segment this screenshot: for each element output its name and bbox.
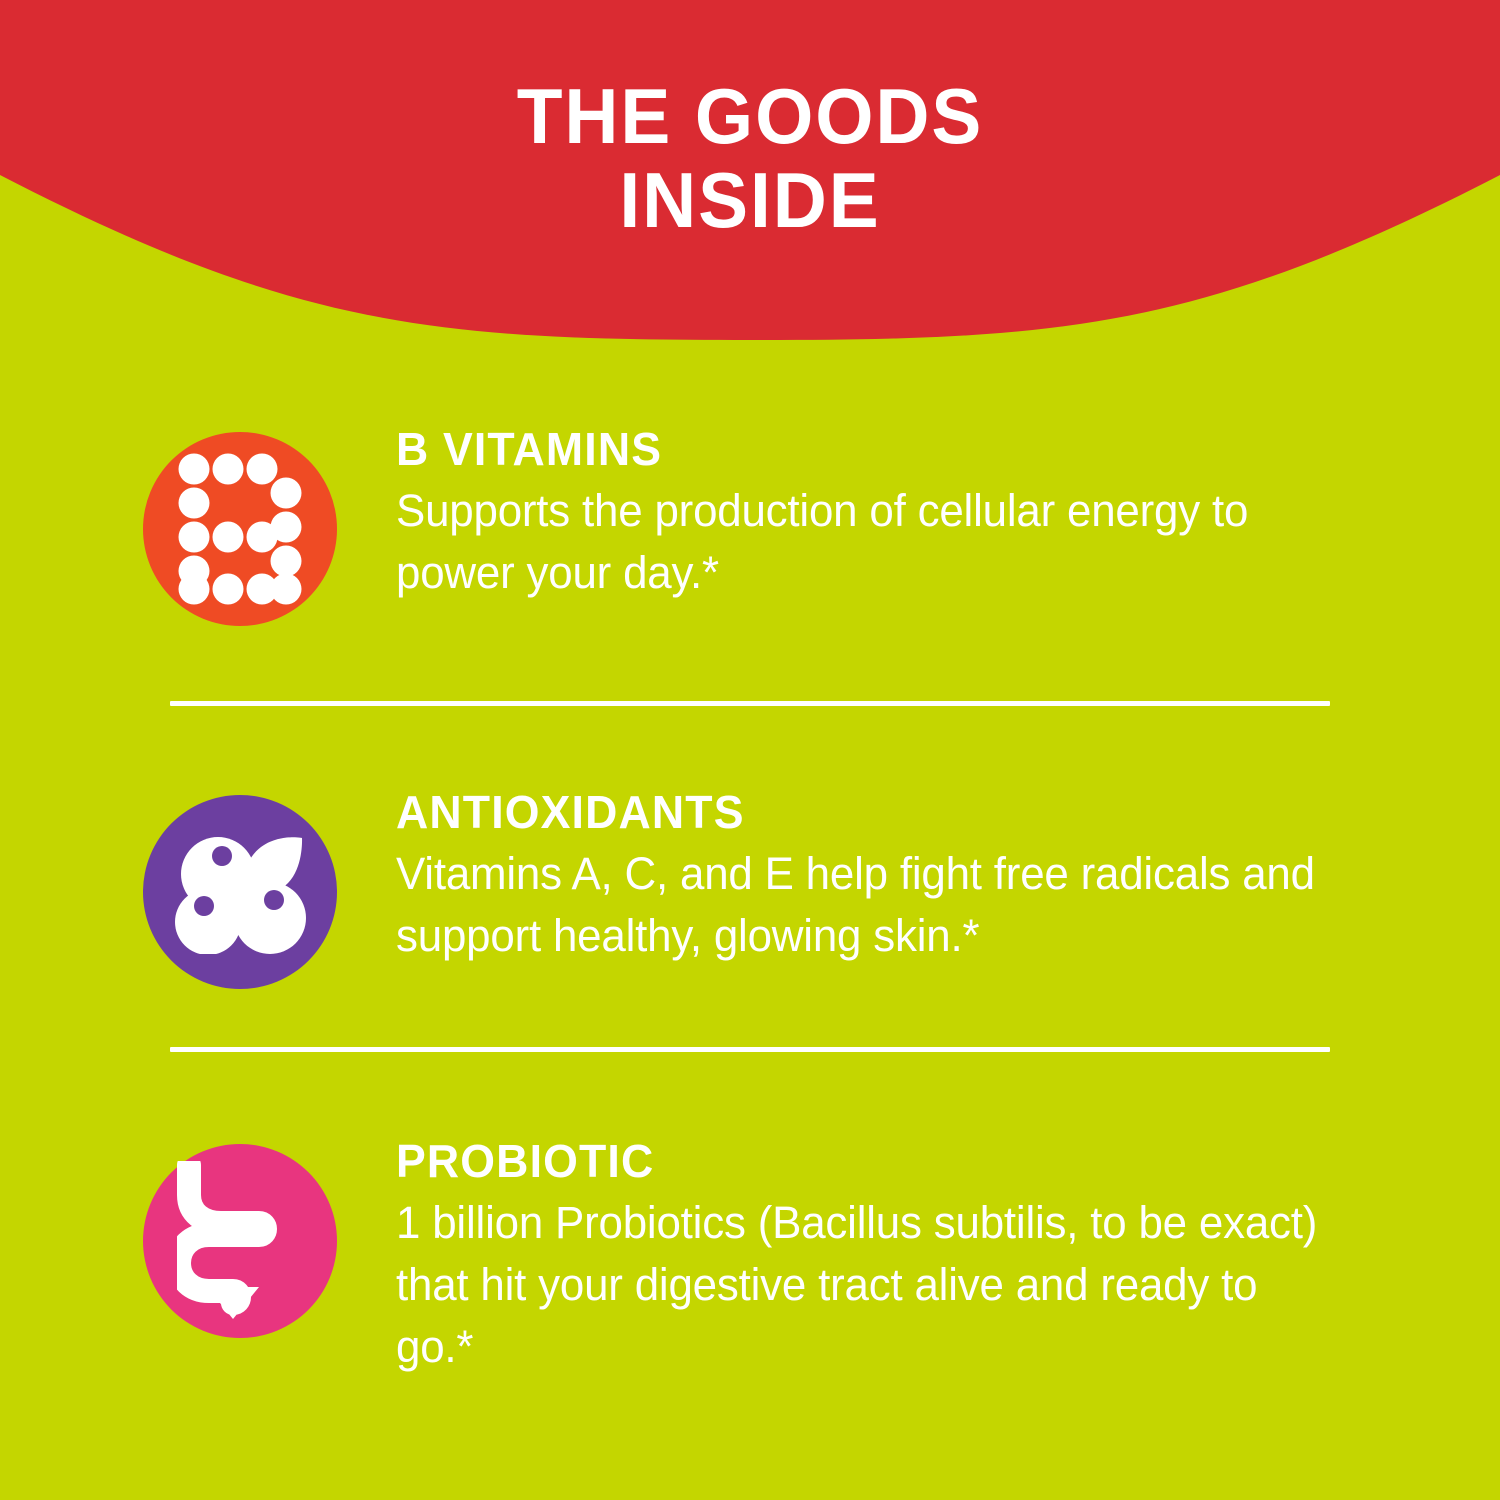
red-banner: THE GOODS INSIDE bbox=[0, 0, 1500, 340]
list-item-text: PROBIOTIC 1 billion Probiotics (Bacillus… bbox=[337, 1112, 1360, 1378]
page-title-line-1: THE GOODS bbox=[517, 72, 984, 160]
berries-antioxidant-icon bbox=[143, 795, 337, 989]
goods-inside-infographic: THE GOODS INSIDE bbox=[0, 0, 1500, 1500]
list-item-b-vitamins: B VITAMINS Supports the production of ce… bbox=[0, 400, 1500, 626]
page-title: THE GOODS INSIDE bbox=[30, 74, 1470, 242]
list-item-text: ANTIOXIDANTS Vitamins A, C, and E help f… bbox=[337, 763, 1360, 967]
list-item-title: PROBIOTIC bbox=[396, 1134, 1331, 1188]
list-item-title: B VITAMINS bbox=[396, 422, 1331, 476]
list-item-title: ANTIOXIDANTS bbox=[396, 785, 1331, 839]
list-item-probiotic: PROBIOTIC 1 billion Probiotics (Bacillus… bbox=[0, 1112, 1500, 1378]
b-vitamins-dots-icon bbox=[143, 432, 337, 626]
ingredient-list: B VITAMINS Supports the production of ce… bbox=[0, 400, 1500, 1378]
list-item-text: B VITAMINS Supports the production of ce… bbox=[337, 400, 1360, 604]
intestine-probiotic-icon bbox=[143, 1144, 337, 1338]
page-title-line-2: INSIDE bbox=[619, 156, 880, 244]
list-item-description: Supports the production of cellular ener… bbox=[396, 480, 1336, 604]
list-item-antioxidants: ANTIOXIDANTS Vitamins A, C, and E help f… bbox=[0, 763, 1500, 989]
list-item-description: 1 billion Probiotics (Bacillus subtilis,… bbox=[396, 1192, 1336, 1378]
list-item-description: Vitamins A, C, and E help fight free rad… bbox=[396, 843, 1336, 967]
